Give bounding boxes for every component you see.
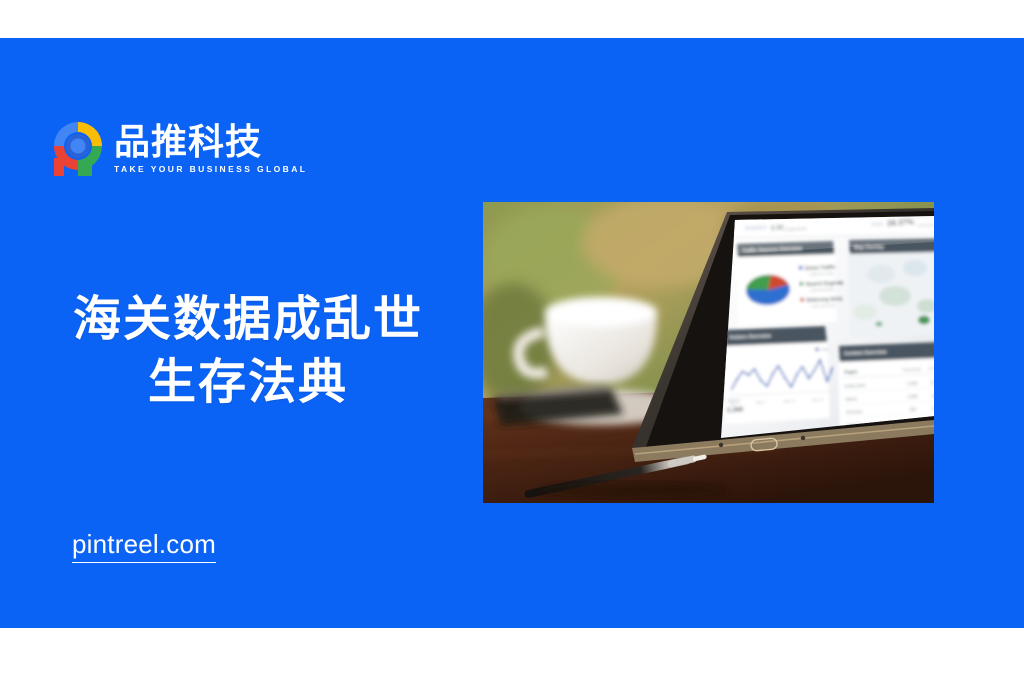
svg-text:2,368: 2,368: [727, 406, 744, 414]
svg-text:Pageviews: Pageviews: [902, 366, 922, 372]
tablet-dashboard-photo: Analytics 2.32 Pageviews Visits 28.37% %…: [483, 202, 934, 503]
headline-line-2: 生存法典: [58, 351, 438, 414]
headline: 海关数据成乱世 生存法典: [58, 288, 438, 415]
svg-text:1,004: 1,004: [907, 394, 918, 399]
svg-text:21.74%: 21.74%: [931, 379, 934, 385]
svg-text:687: 687: [910, 407, 918, 412]
svg-text:% Pv: % Pv: [928, 366, 934, 371]
svg-text:/index.html: /index.html: [845, 383, 866, 389]
svg-text:Mar 22: Mar 22: [812, 398, 823, 403]
svg-text:/services: /services: [846, 409, 863, 415]
svg-text:Mar 15: Mar 15: [784, 399, 795, 404]
website-url-link[interactable]: pintreel.com: [72, 528, 216, 563]
svg-text:Pages: Pages: [844, 369, 858, 375]
svg-text:Visitors: Visitors: [727, 397, 740, 403]
svg-text:/about: /about: [845, 396, 858, 402]
logo-tagline: TAKE YOUR BUSINESS GLOBAL: [114, 164, 307, 174]
slide-canvas: 品推科技 TAKE YOUR BUSINESS GLOBAL 海关数据成乱世 生…: [0, 0, 1024, 683]
logo-name-cn: 品推科技: [114, 124, 307, 162]
brand-logo[interactable]: 品推科技 TAKE YOUR BUSINESS GLOBAL: [50, 118, 307, 178]
svg-text:1,536: 1,536: [907, 381, 918, 386]
svg-text:9.72%: 9.72%: [932, 405, 934, 411]
pintreel-logo-icon: [50, 118, 106, 178]
svg-text:Mar 8: Mar 8: [756, 400, 765, 404]
svg-text:Visits: Visits: [820, 347, 829, 351]
headline-line-1: 海关数据成乱世: [58, 288, 438, 351]
svg-text:14.20%: 14.20%: [931, 392, 934, 398]
logo-wordmark: 品推科技 TAKE YOUR BUSINESS GLOBAL: [114, 122, 307, 175]
hero-photo: Analytics 2.32 Pageviews Visits 28.37% %…: [483, 202, 934, 503]
